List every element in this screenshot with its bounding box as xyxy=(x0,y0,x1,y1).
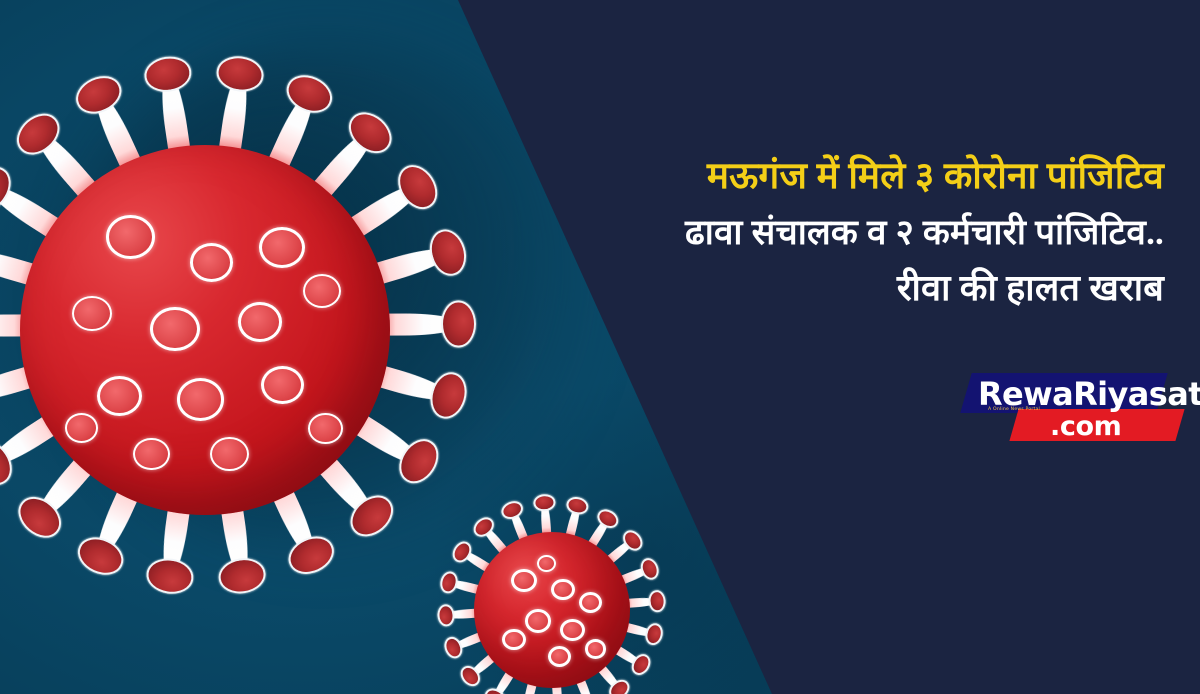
virus-spike-cap xyxy=(533,493,556,511)
virus-spike-cap xyxy=(629,650,655,678)
virus-spike-cap xyxy=(619,526,646,554)
virus-surface-dot xyxy=(97,376,142,417)
site-logo[interactable]: RewaRiyasat A Online News Portal .com xyxy=(966,373,1180,445)
virus-spike-cap xyxy=(425,225,472,280)
virus-surface-dot xyxy=(585,639,607,659)
headline-line-3: रीवा की हालत खराब xyxy=(524,264,1164,312)
news-graphic-canvas: मऊगंज में मिले ३ कोरोना पांजिटिव ढावा सं… xyxy=(0,0,1200,694)
virus-surface-dot xyxy=(210,437,249,472)
virus-spike-cap xyxy=(441,301,476,349)
headline-line-2: ढावा संचालक व २ कर्मचारी पांजिटिव.. xyxy=(524,210,1164,257)
virus-surface-dot xyxy=(308,413,342,444)
virus-surface-dot xyxy=(261,366,304,405)
virus-spike-cap xyxy=(438,570,460,596)
virus-surface-dot xyxy=(511,569,537,592)
logo-tagline-text: A Online News Portal xyxy=(988,407,1040,412)
virus-spike-cap xyxy=(0,434,19,493)
virus-spike-cap xyxy=(216,556,268,597)
virus-surface-dot xyxy=(537,555,556,572)
headline-line-1: मऊगंज में मिले ३ कोरोना पांजिटिव xyxy=(524,152,1164,202)
virus-surface-dot xyxy=(238,302,282,342)
virus-spike-cap xyxy=(449,538,475,566)
virus-surface-dot xyxy=(65,413,98,442)
virus-spike-cap xyxy=(214,54,266,95)
virus-surface-dot xyxy=(579,592,602,613)
virus-spike-cap xyxy=(470,513,498,540)
virus-spike-cap xyxy=(343,488,401,545)
virus-spike-cap xyxy=(144,556,196,597)
virus-spike-cap xyxy=(391,158,446,217)
virus-surface-dot xyxy=(177,378,224,420)
virus-particle xyxy=(426,484,679,694)
virus-spike-cap xyxy=(0,159,18,218)
virus-core xyxy=(20,145,390,515)
virus-spike-cap xyxy=(482,685,510,694)
virus-surface-dot xyxy=(303,274,341,308)
virus-spike-cap xyxy=(499,498,526,522)
logo-tld-text: .com xyxy=(1050,411,1121,442)
virus-spike-cap xyxy=(282,530,340,581)
virus-spike-cap xyxy=(437,604,455,627)
headline-block: मऊगंज में मिले ३ कोरोना पांजिटिव ढावा सं… xyxy=(524,152,1164,313)
virus-spike-cap xyxy=(70,69,128,120)
virus-spike-cap xyxy=(457,662,484,690)
virus-surface-dot xyxy=(133,438,170,471)
virus-spike-cap xyxy=(72,531,129,582)
virus-spike-cap xyxy=(341,104,399,161)
virus-spike-cap xyxy=(442,634,466,661)
virus-spike-cap xyxy=(392,432,447,491)
virus-spike-cap xyxy=(648,589,666,612)
virus-surface-dot xyxy=(106,215,155,258)
virus-spike-cap xyxy=(638,555,662,582)
virus-spike-cap xyxy=(426,368,472,423)
virus-spike-cap xyxy=(10,489,68,546)
virus-spike-cap xyxy=(606,675,634,694)
virus-surface-dot xyxy=(551,579,575,601)
virus-spike-cap xyxy=(9,105,67,162)
virus-spike-cap xyxy=(565,494,591,516)
virus-spike-cap xyxy=(644,621,666,647)
virus-surface-dot xyxy=(525,609,551,633)
virus-spike-cap xyxy=(142,54,194,95)
virus-surface-dot xyxy=(560,619,585,641)
virus-surface-dot xyxy=(190,243,233,282)
virus-spike-cap xyxy=(594,505,622,531)
virus-surface-dot xyxy=(150,307,200,351)
virus-spike-cap xyxy=(281,69,338,120)
